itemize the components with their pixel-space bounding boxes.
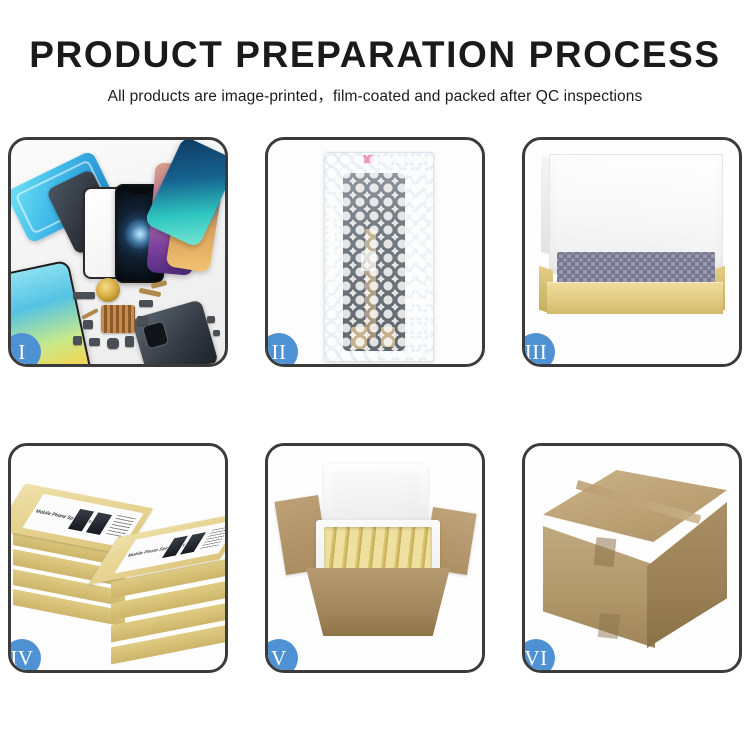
kraft-boxes-inside: [324, 527, 432, 573]
product-preparation-infographic: PRODUCT PREPARATION PROCESS All products…: [0, 0, 750, 750]
step-2-photo: [268, 140, 482, 364]
grey-foam-insert: [557, 252, 715, 286]
gold-coil-part: [96, 278, 120, 302]
foam-box-lid: [324, 464, 428, 526]
process-step-1: I: [8, 137, 228, 367]
process-step-4: Mobile Phone Spare Parts Mobile Phone Sp…: [8, 443, 228, 673]
process-step-2: II: [265, 137, 485, 367]
process-step-6: VI: [522, 443, 742, 673]
bubble-wrap-bag: [324, 152, 434, 362]
process-step-3: III: [522, 137, 742, 367]
connector-grid-part: [101, 305, 135, 333]
carton-body: [306, 568, 450, 636]
page-subtitle: All products are image-printed，film-coat…: [0, 89, 750, 105]
step-5-photo: [268, 446, 482, 670]
process-step-5: V: [265, 443, 485, 673]
page-title: PRODUCT PREPARATION PROCESS: [0, 36, 750, 73]
carton-flap-seam-bottom: [598, 613, 620, 639]
step-3-photo: [525, 140, 739, 364]
carton-flap-seam-top: [594, 537, 617, 567]
step-6-photo: [525, 446, 739, 670]
process-step-grid: I II: [8, 137, 742, 737]
step-1-photo: [11, 140, 225, 364]
kraft-tray-front: [547, 282, 723, 314]
header: PRODUCT PREPARATION PROCESS All products…: [0, 0, 750, 105]
step-4-photo: Mobile Phone Spare Parts Mobile Phone Sp…: [11, 446, 225, 670]
retail-box-stack: Mobile Phone Spare Parts Mobile Phone Sp…: [11, 466, 225, 666]
